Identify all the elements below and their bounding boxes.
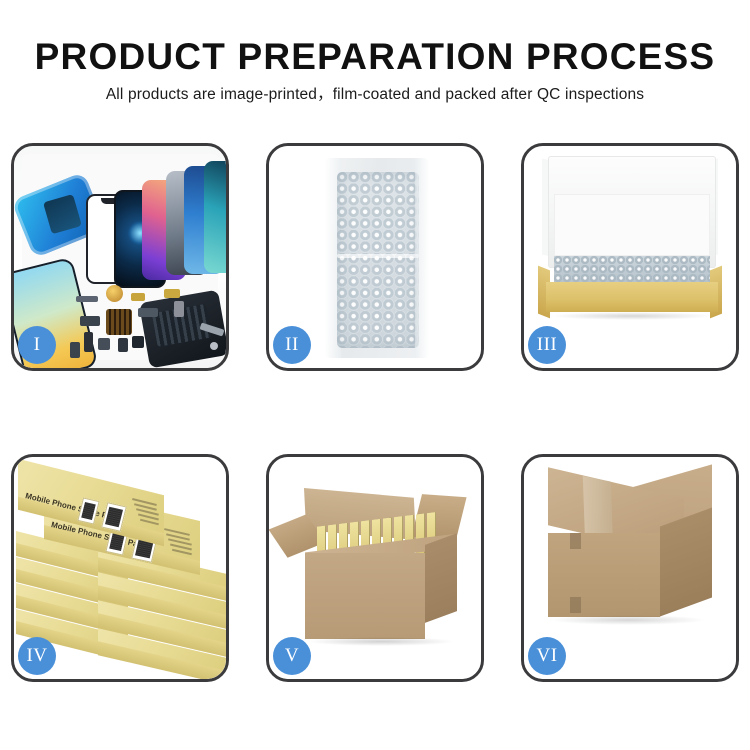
step-badge-4: IV: [18, 637, 56, 675]
step-panel-1: I: [11, 143, 229, 371]
sim-tray-icon: [118, 338, 128, 352]
step-badge-5: V: [273, 637, 311, 675]
kraft-box-front: [546, 282, 718, 312]
vibrator-icon: [132, 336, 144, 348]
shield-plate-icon: [138, 308, 158, 317]
carton-front-face: [548, 533, 660, 617]
carton-seam-bottom: [570, 597, 581, 613]
bubble-pattern: [337, 172, 419, 348]
grille-mesh-icon: [106, 309, 132, 335]
page-subtitle: All products are image-printed，film-coat…: [0, 78, 750, 105]
carton-front-face: [305, 553, 425, 639]
bubble-wrap-sleeve: [325, 158, 429, 358]
carton-seam-top: [570, 533, 581, 549]
speaker-coil-icon: [106, 285, 123, 302]
metal-bracket-icon: [174, 301, 184, 317]
step-panel-6: VI: [521, 454, 739, 682]
product-preparation-infographic: PRODUCT PREPARATION PROCESS All products…: [0, 0, 750, 750]
bracket-icon: [80, 316, 100, 326]
box-shadow: [550, 312, 714, 320]
step-badge-6: VI: [528, 637, 566, 675]
page-title: PRODUCT PREPARATION PROCESS: [0, 0, 750, 78]
connector-icon: [131, 293, 145, 301]
teal-phone-icon: [204, 161, 226, 273]
step-badge-3: III: [528, 326, 566, 364]
gold-connector-icon: [164, 289, 180, 298]
wrap-edge-right: [415, 158, 429, 358]
header: PRODUCT PREPARATION PROCESS All products…: [0, 0, 750, 105]
flex-cable-icon: [76, 296, 98, 302]
carton-right-face: [660, 508, 712, 617]
step-panel-5: V: [266, 454, 484, 682]
step-badge-2: II: [273, 326, 311, 364]
stacked-box-r-4: [98, 643, 226, 671]
button-strip-icon: [84, 332, 93, 352]
step-badge-1: I: [18, 326, 56, 364]
step-panel-2: II: [266, 143, 484, 371]
carton-shadow: [550, 615, 706, 625]
foam-insert: [554, 194, 710, 256]
antenna-part-icon: [70, 342, 80, 358]
box-stack: Mobile Phone Spare Parts Mobile Phone: [16, 473, 226, 665]
camera-module-icon: [98, 338, 110, 350]
carton-shadow: [307, 637, 455, 646]
process-step-grid: I II: [11, 143, 739, 682]
step-panel-3: III: [521, 143, 739, 371]
wrap-seam: [337, 254, 419, 258]
carton-side-face: [425, 533, 457, 623]
screw-icon: [210, 342, 218, 350]
bubble-wrapped-contents: [554, 256, 710, 284]
printed-box-top: Mobile Phone Spare Parts: [18, 477, 164, 529]
step-panel-4: Mobile Phone Spare Parts Mobile Phone: [11, 454, 229, 682]
